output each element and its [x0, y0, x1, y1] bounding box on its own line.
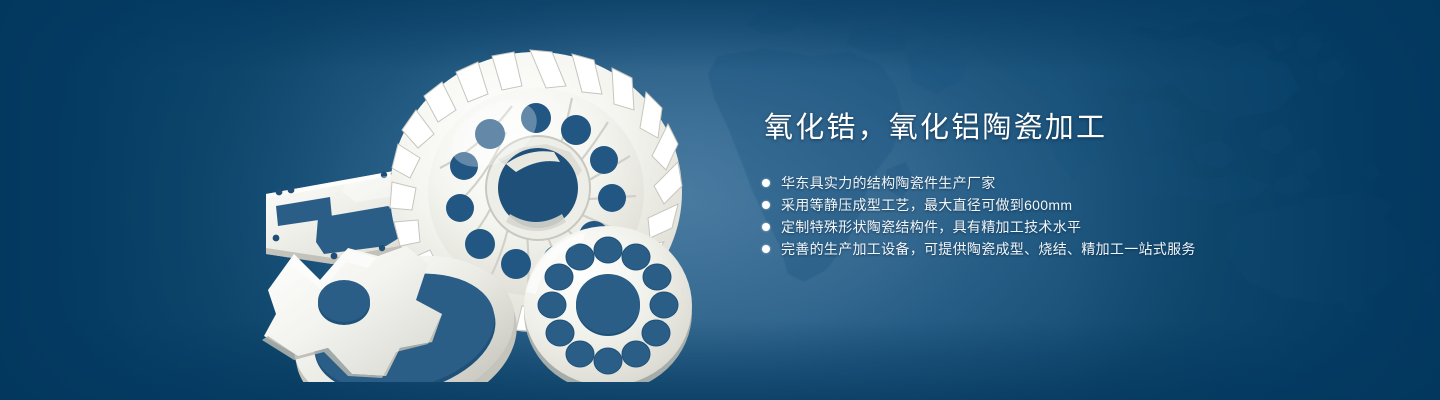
product-photo-cluster	[236, 42, 706, 382]
banner-headline: 氧化锆，氧化铝陶瓷加工	[764, 108, 1382, 148]
feature-item: 完善的生产加工设备，可提供陶瓷成型、烧结、精加工一站式服务	[762, 238, 1382, 260]
bullet-dot-icon	[762, 245, 770, 253]
bullet-dot-icon	[762, 201, 770, 209]
bullet-dot-icon	[762, 179, 770, 187]
feature-text: 采用等静压成型工艺，最大直径可做到600mm	[781, 194, 1072, 216]
feature-item: 华东具实力的结构陶瓷件生产厂家	[762, 172, 1382, 194]
feature-text: 完善的生产加工设备，可提供陶瓷成型、烧结、精加工一站式服务	[781, 238, 1196, 260]
banner-text-block: 氧化锆，氧化铝陶瓷加工 华东具实力的结构陶瓷件生产厂家 采用等静压成型工艺，最大…	[762, 108, 1382, 260]
feature-text: 定制特殊形状陶瓷结构件，具有精加工技术水平	[781, 216, 1081, 238]
hero-banner: 氧化锆，氧化铝陶瓷加工 华东具实力的结构陶瓷件生产厂家 采用等静压成型工艺，最大…	[0, 0, 1440, 400]
feature-item: 采用等静压成型工艺，最大直径可做到600mm	[762, 194, 1382, 216]
ceramic-perforated-disc-photo	[524, 226, 692, 382]
bullet-dot-icon	[762, 223, 770, 231]
feature-item: 定制特殊形状陶瓷结构件，具有精加工技术水平	[762, 216, 1382, 238]
feature-list: 华东具实力的结构陶瓷件生产厂家 采用等静压成型工艺，最大直径可做到600mm 定…	[762, 172, 1382, 260]
feature-text: 华东具实力的结构陶瓷件生产厂家	[781, 172, 996, 194]
